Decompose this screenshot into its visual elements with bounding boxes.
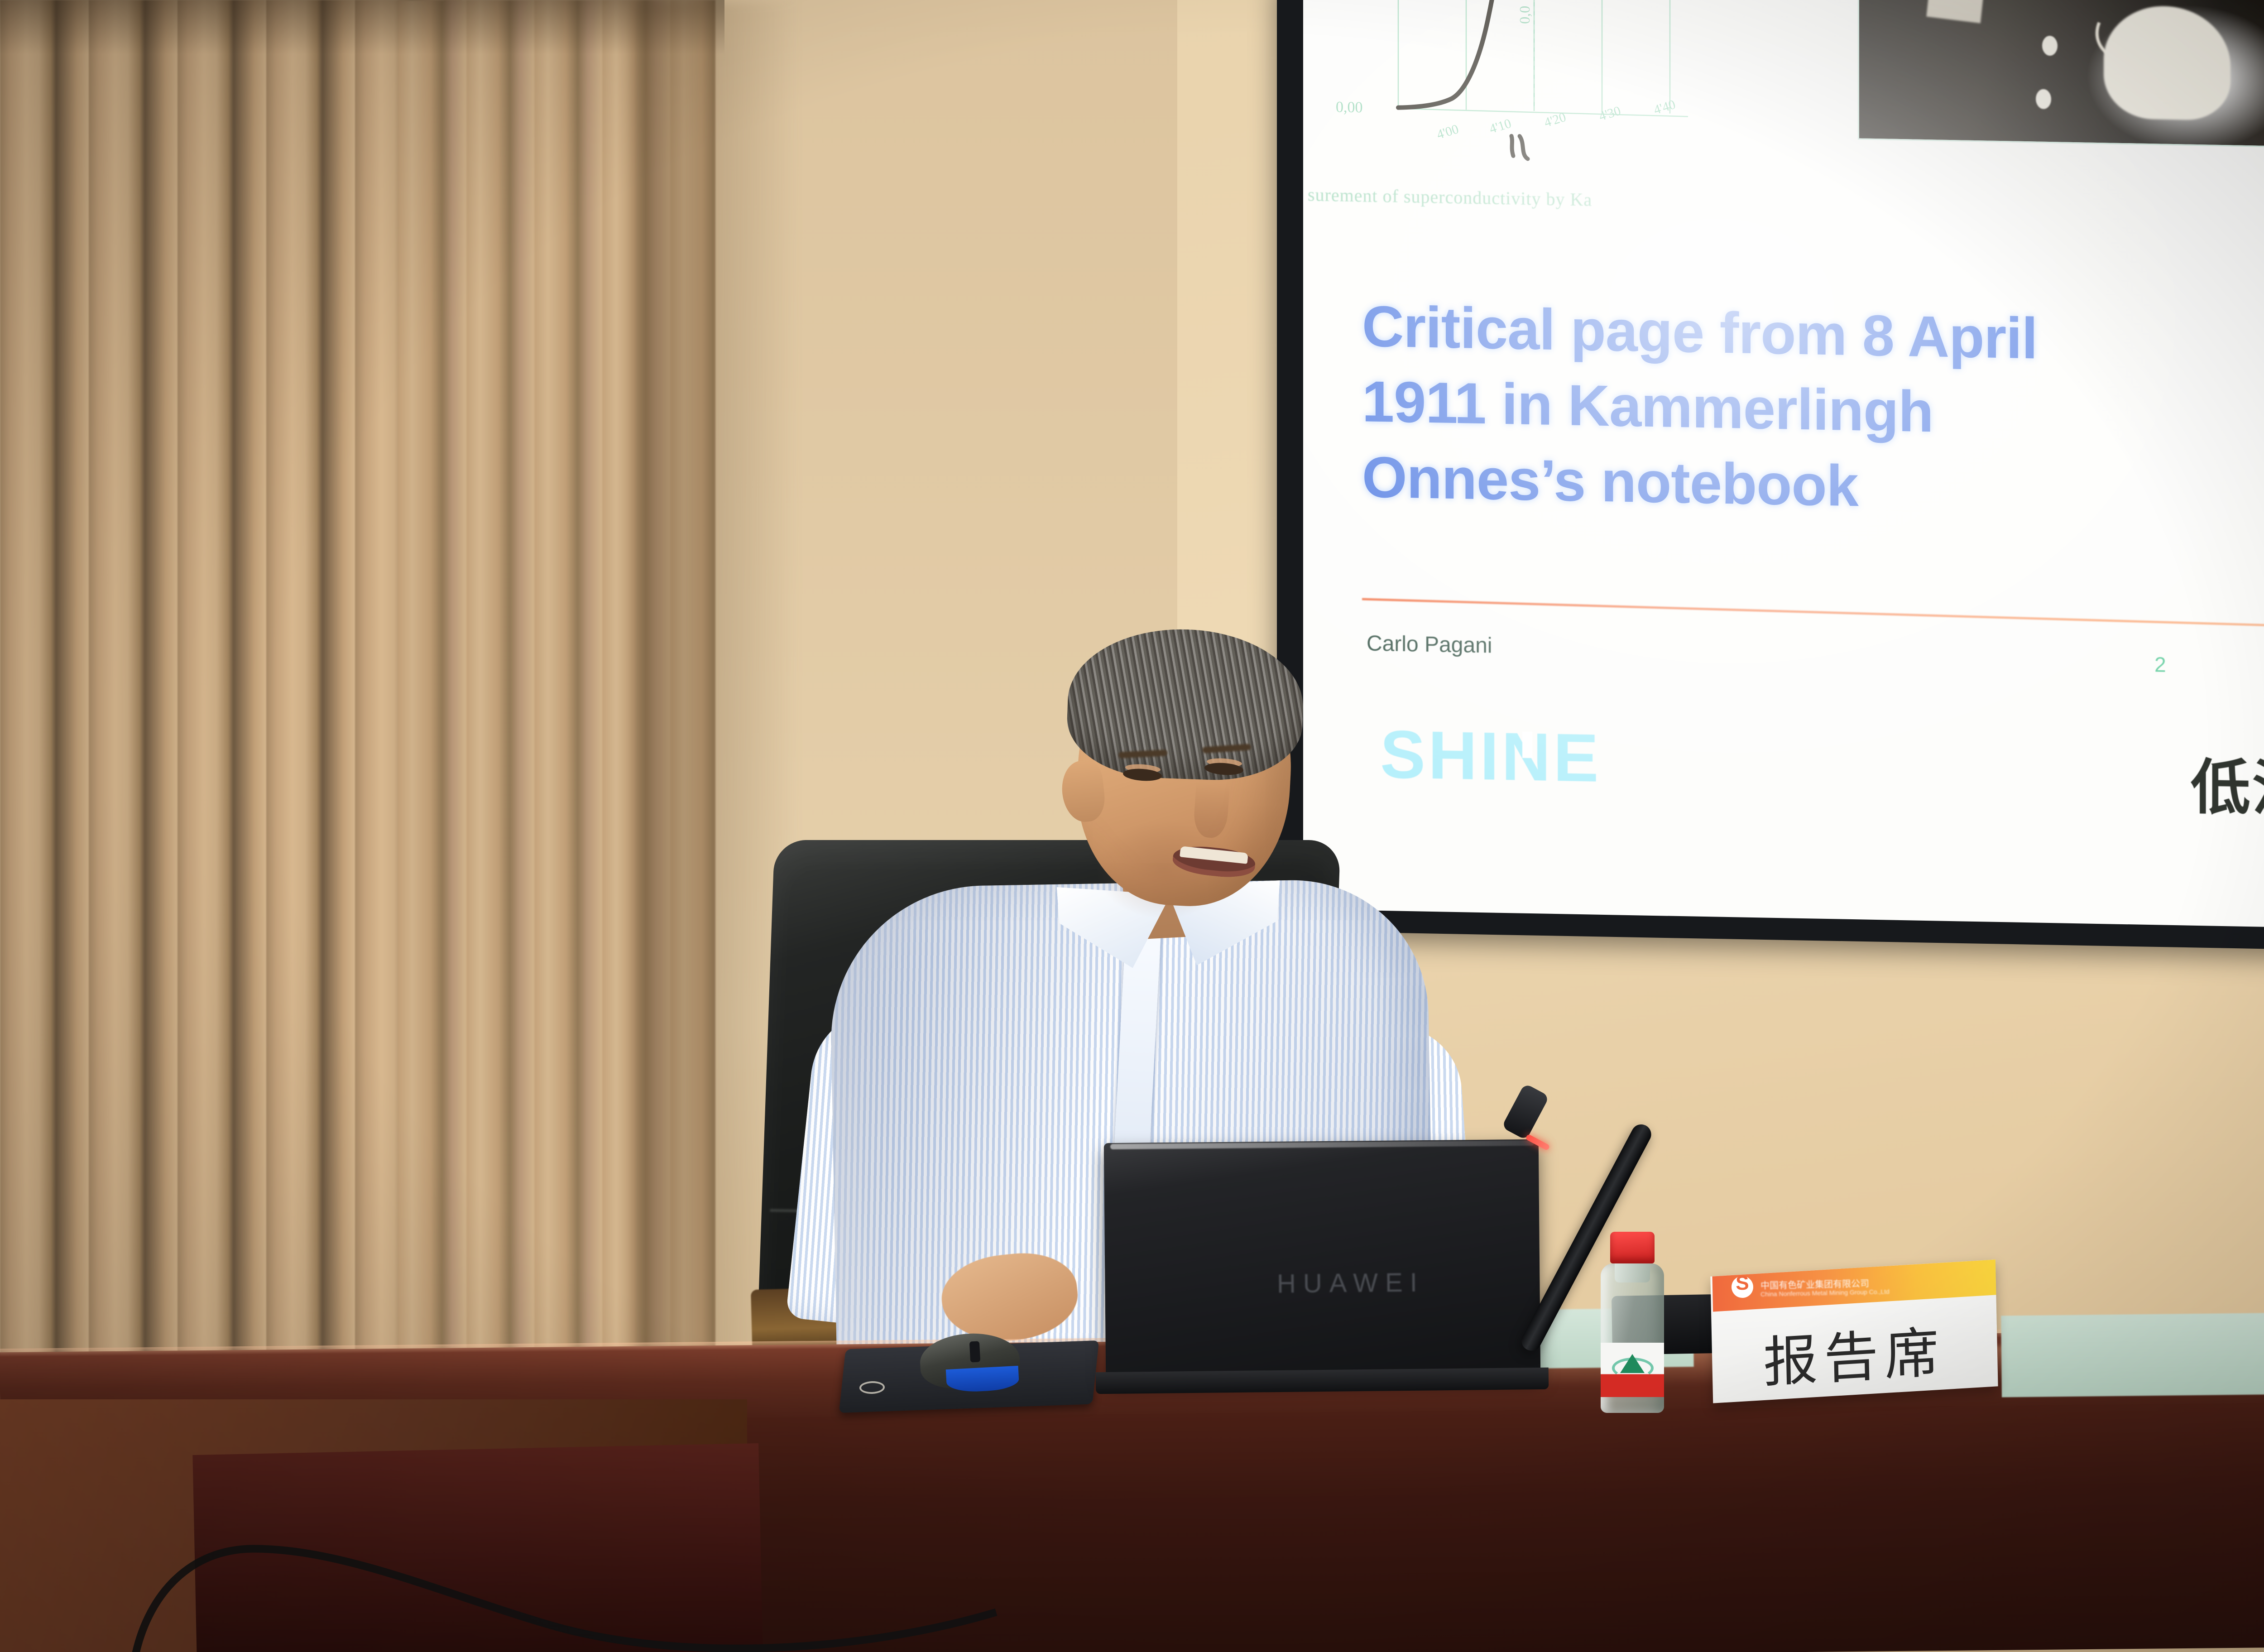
slide-title: Critical page from 8 April 1911 in Kamme… — [1362, 289, 2222, 531]
svg-text:4'00: 4'00 — [1435, 122, 1460, 142]
desk-lower-panel — [192, 1443, 763, 1652]
photo-hand — [2104, 5, 2230, 120]
slide-author: Carlo Pagani — [1367, 631, 1492, 658]
photo-button — [2036, 89, 2051, 109]
svg-text:4'10: 4'10 — [1487, 116, 1513, 137]
table-mat-right — [2001, 1311, 2264, 1397]
photo-scene: 0,05 0,025 0,00 4'00 4'10 4'20 4'30 4'40… — [0, 0, 2264, 1652]
svg-text:4'30: 4'30 — [1597, 104, 1622, 124]
svg-text:4'40: 4'40 — [1652, 97, 1677, 118]
slide-title-line-3: Onnes’s notebook — [1362, 440, 2222, 531]
resistance-chart: 0,05 0,025 0,00 4'00 4'10 4'20 4'30 4'40… — [1330, 0, 1693, 187]
figure-caption: surement of superconductivity by Ka — [1308, 184, 1715, 212]
mouse-scroll-wheel[interactable] — [969, 1341, 980, 1362]
curtain-left — [0, 0, 462, 1440]
bottle-cap — [1610, 1232, 1655, 1263]
svg-text:0,00: 0,00 — [1336, 99, 1362, 116]
slide-chinese-text: 低温超 — [2191, 739, 2264, 829]
laptop[interactable] — [1104, 1139, 1541, 1378]
laptop-brand-label: HUAWEI — [1277, 1268, 1425, 1299]
slide-page-number: 2 — [2154, 652, 2166, 677]
slide-divider-rule — [1362, 598, 2264, 632]
svg-text:0,0: 0,0 — [1516, 5, 1533, 24]
historic-photo — [1858, 0, 2264, 148]
curtain-top-shadow — [0, 0, 724, 54]
photo-button — [2042, 36, 2058, 56]
shine-logo-part-e: E — [1553, 719, 1601, 796]
shine-logo-part-n: N — [1501, 717, 1553, 797]
photo-lapel — [1926, 0, 2000, 23]
